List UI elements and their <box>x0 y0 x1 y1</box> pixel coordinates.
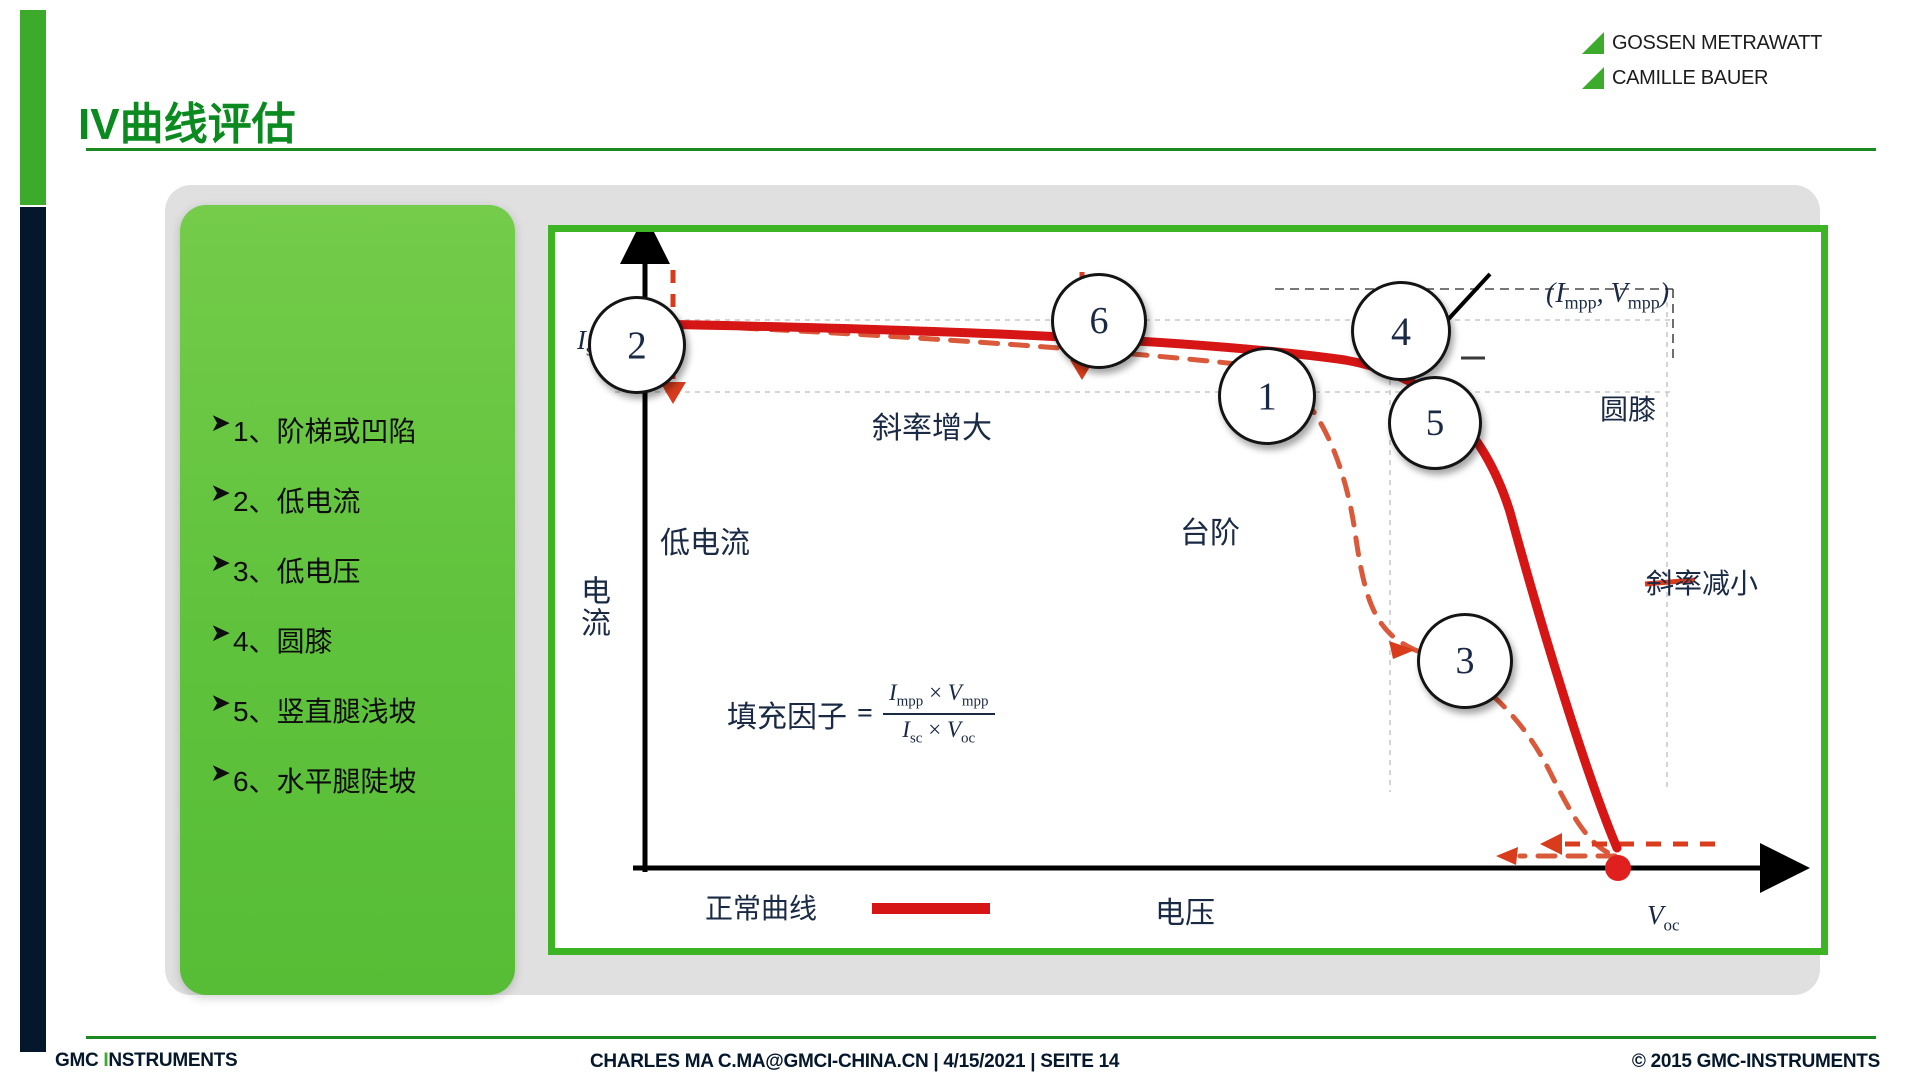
title-underline <box>86 148 1876 151</box>
list-item-label: 4、圆膝 <box>233 620 333 660</box>
logo-row-gossen: GOSSEN METRAWATT <box>1580 30 1880 56</box>
accent-bar-navy <box>20 207 46 1052</box>
marker-voc <box>1605 855 1631 881</box>
logo-text-gossen: GOSSEN METRAWATT <box>1612 32 1822 55</box>
arrow-bullet-icon: ➤ <box>210 550 231 578</box>
list-item: ➤ 2、低电流 <box>210 480 510 520</box>
footer-meta: CHARLES MA C.MA@GMCI-CHINA.CN | 4/15/202… <box>590 1051 1119 1073</box>
arrow-bullet-icon: ➤ <box>210 620 231 648</box>
list-item-label: 1、阶梯或凹陷 <box>233 410 417 450</box>
annotation-low-current: 低电流 <box>660 518 750 562</box>
callout-bubble-5[interactable]: 5 <box>1388 376 1482 470</box>
footer-copyright: © 2015 GMC-INSTRUMENTS <box>1632 1051 1880 1073</box>
callout-bubble-6[interactable]: 6 <box>1051 273 1147 369</box>
list-item: ➤ 4、圆膝 <box>210 620 510 660</box>
logo-row-camille: CAMILLE BAUER <box>1580 65 1880 91</box>
formula-fraction: Impp × Vmpp Isc × Voc <box>883 680 995 747</box>
list-item: ➤ 1、阶梯或凹陷 <box>210 410 510 450</box>
annotation-slope-decrease: 斜率减小 <box>1646 562 1758 602</box>
list-item-label: 5、竖直腿浅坡 <box>233 690 417 730</box>
arrow-bullet-icon: ➤ <box>210 480 231 508</box>
annotation-step: 台阶 <box>1180 508 1240 552</box>
triangle-icon <box>1580 30 1606 56</box>
bullet-card: ➤ 1、阶梯或凹陷 ➤ 2、低电流 ➤ 3、低电压 ➤ 4、圆膝 ➤ 5、竖直腿… <box>180 205 515 995</box>
axis-label-voc: Voc <box>1647 900 1680 935</box>
callout-bubble-4[interactable]: 4 <box>1351 281 1451 381</box>
arrow-bullet-icon: ➤ <box>210 690 231 718</box>
bullet-list: ➤ 1、阶梯或凹陷 ➤ 2、低电流 ➤ 3、低电压 ➤ 4、圆膝 ➤ 5、竖直腿… <box>210 410 510 830</box>
arrow-bullet-icon: ➤ <box>210 760 231 788</box>
list-item-label: 3、低电压 <box>233 550 361 590</box>
logo-text-camille: CAMILLE BAUER <box>1612 67 1768 90</box>
brand-logo: GOSSEN METRAWATT CAMILLE BAUER <box>1580 30 1880 100</box>
legend-label: 正常曲线 <box>705 887 817 927</box>
page-title: IV曲线评估 <box>78 88 296 152</box>
triangle-icon <box>1580 65 1606 91</box>
list-item-label: 6、水平腿陡坡 <box>233 760 417 800</box>
callout-bubble-3[interactable]: 3 <box>1417 613 1513 709</box>
callout-bubble-2[interactable]: 2 <box>588 296 686 394</box>
footer-brand-prefix: GMC <box>55 1050 103 1071</box>
mpp-coordinate-label: (Impp, Vmpp) <box>1546 278 1669 314</box>
formula-denominator: Isc × Voc <box>883 715 995 748</box>
formula-equals: = <box>857 698 873 730</box>
legend-swatch <box>872 903 990 914</box>
iv-curve-chart <box>548 225 1828 955</box>
accent-bar-green <box>20 10 46 205</box>
footer-brand-suffix: NSTRUMENTS <box>108 1050 237 1071</box>
voc-arrowhead <box>1540 833 1562 855</box>
list-item: ➤ 6、水平腿陡坡 <box>210 760 510 800</box>
arrow-bullet-icon: ➤ <box>210 410 231 438</box>
footer-divider <box>86 1036 1876 1039</box>
formula-label: 填充因子 <box>727 692 847 736</box>
list-item: ➤ 5、竖直腿浅坡 <box>210 690 510 730</box>
footer-brand: GMC INSTRUMENTS <box>55 1050 237 1072</box>
list-item-label: 2、低电流 <box>233 480 361 520</box>
formula-numerator: Impp × Vmpp <box>883 680 995 715</box>
x-axis-title: 电压 <box>1155 888 1215 932</box>
iv-curve-plot <box>555 232 1821 948</box>
y-axis-title: 电流 <box>570 575 614 639</box>
list-item: ➤ 3、低电压 <box>210 550 510 590</box>
fill-factor-formula: 填充因子 = Impp × Vmpp Isc × Voc <box>727 680 995 747</box>
annotation-round-knee: 圆膝 <box>1600 388 1656 428</box>
annotation-slope-increase: 斜率增大 <box>872 403 992 447</box>
callout-bubble-1[interactable]: 1 <box>1218 347 1316 445</box>
